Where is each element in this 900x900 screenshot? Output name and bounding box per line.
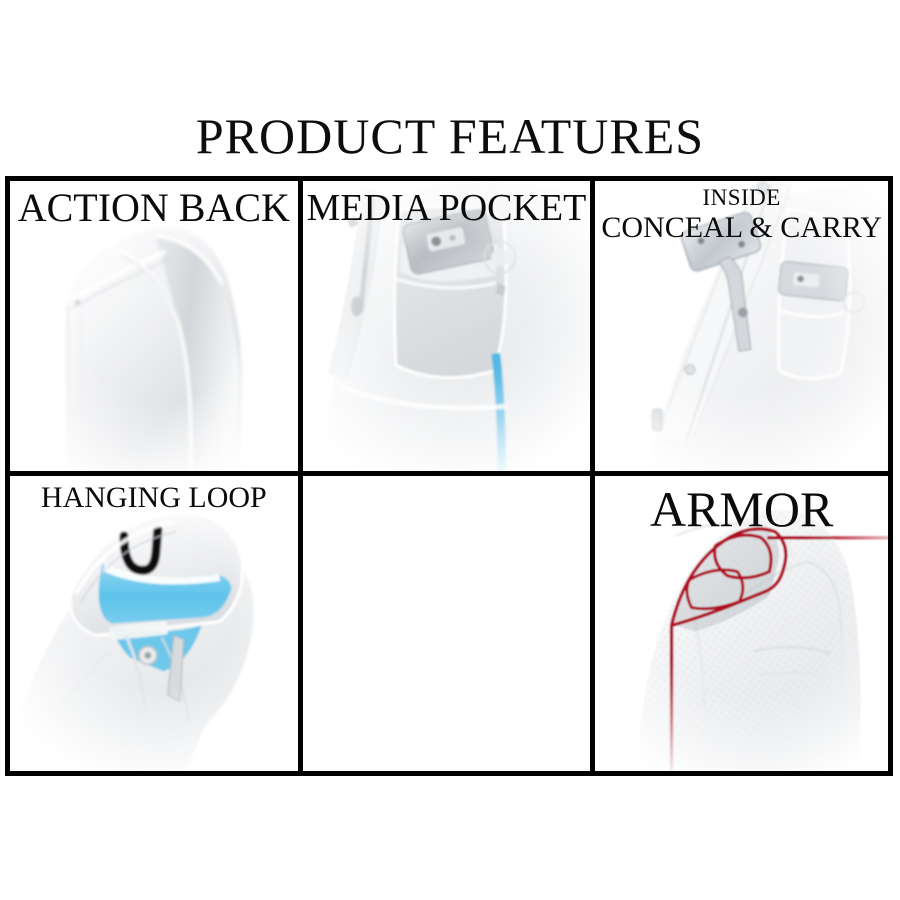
feature-cell-armor: ARMOR xyxy=(595,476,888,771)
conceal-carry-photo xyxy=(595,181,888,471)
action-back-photo xyxy=(10,181,298,471)
feature-cell-blank xyxy=(303,476,596,771)
feature-cell-hanging-loop: HANGING LOOP xyxy=(10,476,303,771)
media-pocket-photo xyxy=(303,181,591,471)
feature-grid: ACTION BACK xyxy=(5,176,893,776)
page-title: PRODUCT FEATURES xyxy=(0,108,900,164)
feature-cell-media-pocket: MEDIA POCKET xyxy=(303,181,596,476)
armor-photo xyxy=(595,476,888,771)
feature-cell-action-back: ACTION BACK xyxy=(10,181,303,476)
hanging-loop-photo xyxy=(10,476,298,771)
feature-cell-conceal-carry: INSIDE CONCEAL & CARRY xyxy=(595,181,888,476)
